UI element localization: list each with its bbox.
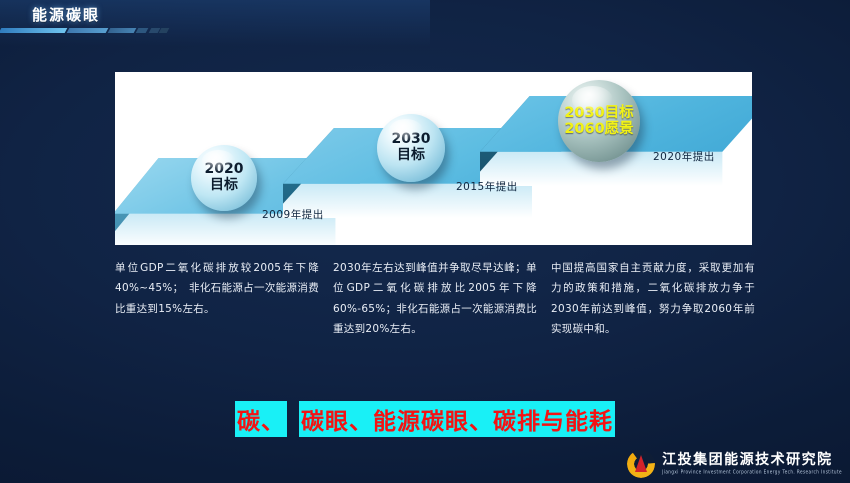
logo-triangle-shape	[635, 455, 647, 472]
description-column-2: 2030年左右达到峰值并争取尽早达峰；单位GDP二氧化碳排放比2005年下降60…	[333, 258, 537, 340]
description-column-1: 单位GDP二氧化碳排放较2005年下降40%~45%； 非化石能源占一次能源消费…	[115, 258, 319, 340]
page-title: 能源碳眼	[32, 4, 100, 25]
goal-sphere-2020-line1: 2020	[205, 162, 244, 178]
logo-text-block: 江投集团能源技术研究院 Jiangxi Province Investment …	[662, 453, 842, 474]
headline-chunk-1: 碳、	[235, 401, 287, 437]
goal-sphere-2060: 2030目标 2060愿景	[558, 80, 640, 162]
headline-chunk-2: 碳眼、能源碳眼、碳排与能耗	[299, 401, 615, 437]
footer-logo: 江投集团能源技术研究院 Jiangxi Province Investment …	[627, 450, 842, 478]
headline-banner: 碳、碳眼、能源碳眼、碳排与能耗	[0, 401, 850, 437]
staircase-diagram: 2009年提出 2015年提出 2020年提出 2020 目标 2030 目标 …	[115, 72, 752, 245]
slide-root: 能源碳眼	[0, 0, 850, 483]
goal-sphere-2060-line2: 2060愿景	[564, 121, 633, 137]
rule-segment-4	[136, 28, 149, 33]
logo-name-en: Jiangxi Province Investment Corporation …	[662, 470, 842, 475]
step-label-2: 2015年提出	[456, 179, 518, 194]
goal-sphere-2020: 2020 目标	[191, 145, 257, 211]
goal-sphere-2020-line2: 目标	[210, 178, 238, 194]
logo-name-cn: 江投集团能源技术研究院	[662, 453, 842, 468]
header-decorative-rule	[0, 28, 170, 33]
goal-sphere-2030-line2: 目标	[397, 148, 425, 164]
description-columns: 单位GDP二氧化碳排放较2005年下降40%~45%； 非化石能源占一次能源消费…	[115, 258, 755, 340]
goal-sphere-2060-line1: 2030目标	[564, 105, 633, 121]
rule-segment-3	[108, 28, 137, 33]
rule-segment-2	[67, 28, 109, 33]
rule-segment-6	[159, 28, 169, 33]
description-column-3: 中国提高国家自主贡献力度，采取更加有力的政策和措施，二氧化碳排放力争于2030年…	[551, 258, 755, 340]
goal-sphere-2030: 2030 目标	[377, 114, 445, 182]
rule-segment-1	[0, 28, 67, 33]
step-label-1: 2009年提出	[262, 207, 324, 222]
diagram-panel: 2009年提出 2015年提出 2020年提出 2020 目标 2030 目标 …	[115, 72, 752, 245]
slide-header: 能源碳眼	[0, 0, 850, 46]
company-logo-icon	[627, 450, 655, 478]
goal-sphere-2030-line1: 2030	[392, 132, 431, 148]
step-label-3: 2020年提出	[653, 149, 715, 164]
